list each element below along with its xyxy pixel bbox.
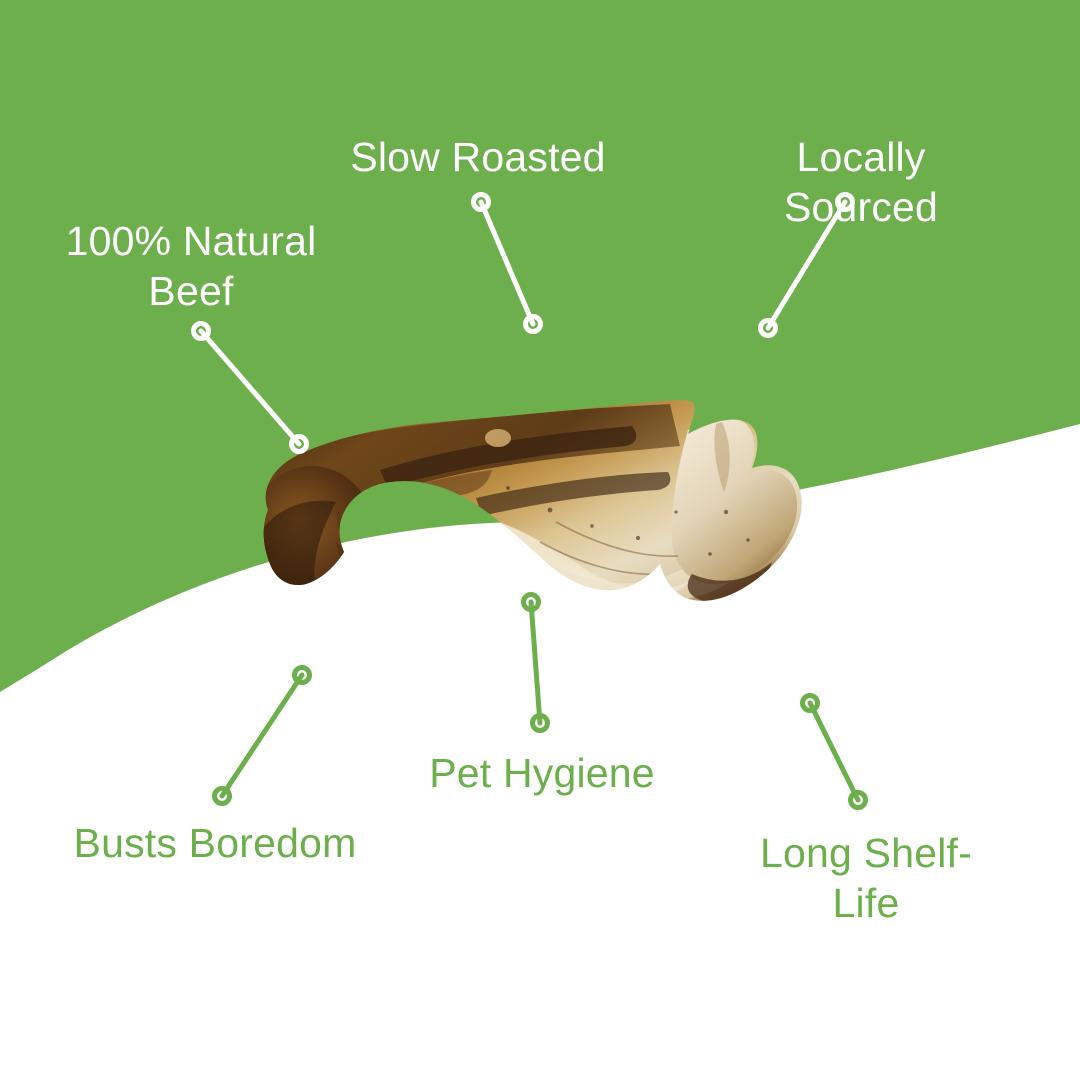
infographic-canvas: 100% Natural Beef Slow Roasted Locally S… — [0, 0, 1080, 1080]
callout-label-long-shelf-life[interactable]: Long Shelf-Life — [759, 828, 973, 928]
bone-lower-shadow — [336, 542, 476, 603]
callout-label-pet-hygiene[interactable]: Pet Hygiene — [429, 748, 655, 798]
callout-label-locally-sourced[interactable]: Locally Sourced — [752, 132, 971, 232]
callout-label-busts-boredom[interactable]: Busts Boredom — [74, 818, 357, 868]
product-image-roasted-beef-bone — [240, 392, 884, 636]
bone-nub — [485, 429, 511, 447]
bone-right-knuckle — [672, 417, 798, 584]
callout-label-natural-beef[interactable]: 100% Natural Beef — [66, 216, 317, 316]
callout-label-slow-roasted[interactable]: Slow Roasted — [350, 132, 605, 182]
bone-surface-detail — [250, 404, 797, 603]
